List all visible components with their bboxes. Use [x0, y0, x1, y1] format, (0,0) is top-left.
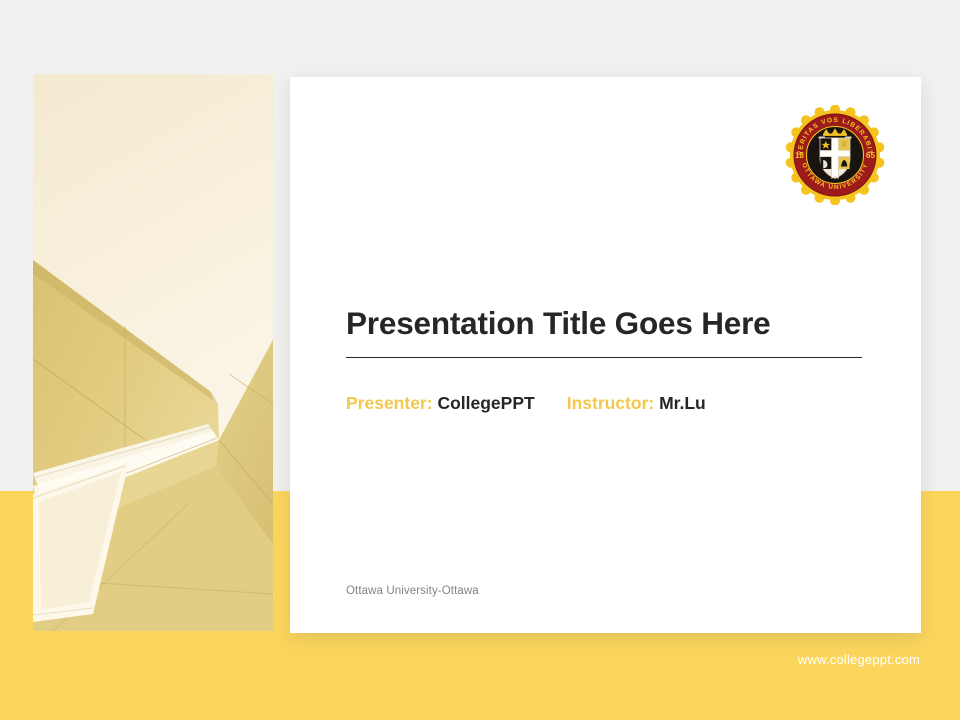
presenter-value: CollegePPT	[437, 393, 534, 413]
crest-year-left: 18	[795, 151, 804, 160]
instructor-value: Mr.Lu	[659, 393, 706, 413]
page-title: Presentation Title Goes Here	[346, 305, 866, 342]
instructor-group: Instructor: Mr.Lu	[567, 393, 706, 413]
crest-year-right: 65	[866, 151, 875, 160]
presenter-group: Presenter: CollegePPT	[346, 393, 535, 413]
title-divider	[346, 357, 862, 358]
instructor-label: Instructor:	[567, 393, 655, 413]
watermark-url: www.collegeppt.com	[798, 652, 920, 667]
title-block: Presentation Title Goes Here	[346, 305, 866, 358]
cover-photo-artwork	[33, 74, 273, 631]
presenter-instructor-line: Presenter: CollegePPTInstructor: Mr.Lu	[346, 395, 706, 413]
slide-canvas: VERITAS VOS LIBERABIT OTTAWA UNIVERSITY …	[0, 0, 960, 720]
presenter-label: Presenter:	[346, 393, 433, 413]
slide-footer: Ottawa University-Ottawa	[346, 585, 479, 597]
slide-card: VERITAS VOS LIBERABIT OTTAWA UNIVERSITY …	[290, 77, 921, 633]
ottawa-university-crest-icon: VERITAS VOS LIBERABIT OTTAWA UNIVERSITY …	[785, 105, 885, 205]
cover-photo	[33, 74, 273, 631]
